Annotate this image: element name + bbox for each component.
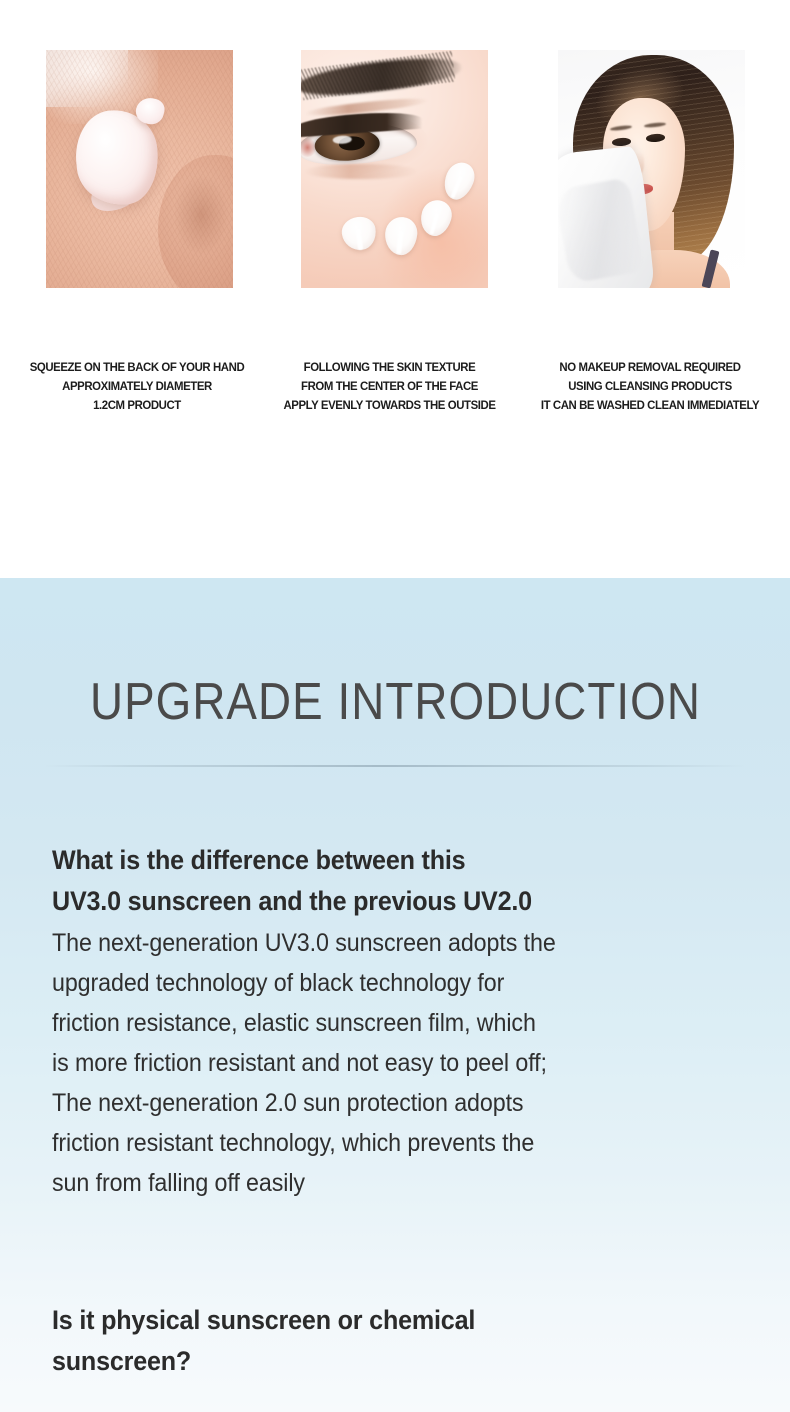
- caption-line: USING CLEANSING PRODUCTS: [521, 377, 779, 396]
- caption-line: APPROXIMATELY DIAMETER: [11, 377, 263, 396]
- caption-line: APPLY EVENLY TOWARDS THE OUTSIDE: [263, 396, 516, 415]
- answer-line: The next-generation UV3.0 sunscreen adop…: [52, 923, 703, 963]
- qa-question-2: Is it physical sunscreen or chemical sun…: [52, 1300, 703, 1382]
- question-line: Is it physical sunscreen or chemical: [52, 1300, 703, 1341]
- answer-line: The next-generation 2.0 sun protection a…: [52, 1083, 703, 1123]
- cream-on-back-of-hand-photo: [46, 50, 233, 288]
- model-photo-illustration: [558, 50, 745, 288]
- caption-line: NO MAKEUP REMOVAL REQUIRED: [521, 358, 779, 377]
- eye-closeup-with-cream-dabs-photo: [301, 50, 488, 288]
- product-detail-page: SQUEEZE ON THE BACK OF YOUR HAND APPROXI…: [0, 0, 790, 1412]
- under-eye-shading: [305, 164, 417, 178]
- usage-instructions-section: SQUEEZE ON THE BACK OF YOUR HAND APPROXI…: [0, 0, 790, 578]
- hand-photo-illustration: [46, 50, 233, 288]
- answer-line: upgraded technology of black technology …: [52, 963, 703, 1003]
- model-with-towel-photo: [558, 50, 745, 288]
- question-line: UV3.0 sunscreen and the previous UV2.0: [52, 881, 703, 922]
- eye-photo-illustration: [301, 50, 488, 288]
- caption-line: SQUEEZE ON THE BACK OF YOUR HAND: [11, 358, 263, 377]
- answer-line: sun from falling off easily: [52, 1163, 703, 1203]
- answer-line: friction resistance, elastic sunscreen f…: [52, 1003, 703, 1043]
- caption-line: 1.2CM PRODUCT: [11, 396, 263, 415]
- usage-photo-row: [0, 50, 790, 288]
- page-title: UPGRADE INTRODUCTION: [90, 672, 701, 732]
- question-line: sunscreen?: [52, 1341, 703, 1382]
- caption-line: IT CAN BE WASHED CLEAN IMMEDIATELY: [521, 396, 779, 415]
- qa-question-1: What is the difference between this UV3.…: [52, 840, 703, 922]
- answer-line: friction resistant technology, which pre…: [52, 1123, 703, 1163]
- usage-caption-step-2: FOLLOWING THE SKIN TEXTURE FROM THE CENT…: [263, 358, 516, 415]
- upgrade-introduction-section: UPGRADE INTRODUCTION What is the differe…: [0, 578, 790, 1412]
- qa-answer-1: The next-generation UV3.0 sunscreen adop…: [52, 923, 703, 1203]
- caption-line: FROM THE CENTER OF THE FACE: [263, 377, 516, 396]
- question-line: What is the difference between this: [52, 840, 703, 881]
- usage-caption-step-1: SQUEEZE ON THE BACK OF YOUR HAND APPROXI…: [11, 358, 263, 415]
- answer-line: is more friction resistant and not easy …: [52, 1043, 703, 1083]
- caption-line: FOLLOWING THE SKIN TEXTURE: [263, 358, 516, 377]
- usage-caption-step-3: NO MAKEUP REMOVAL REQUIRED USING CLEANSI…: [521, 358, 779, 415]
- title-divider: [45, 765, 745, 767]
